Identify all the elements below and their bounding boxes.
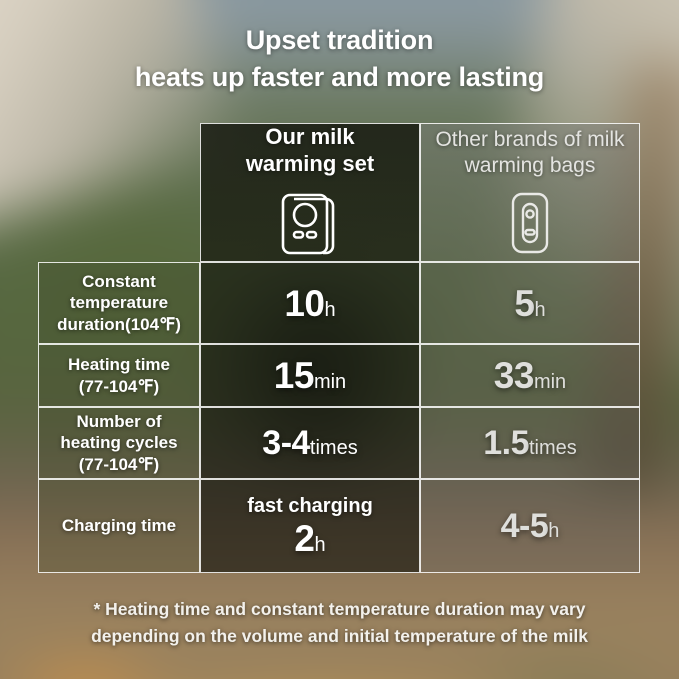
cell-ours-constant-temperature-duration: 10h bbox=[200, 262, 420, 344]
table-row: Heating time (77-104℉) bbox=[38, 344, 200, 407]
cell-other-heating-time: 33min bbox=[420, 344, 640, 407]
table-row: Charging time bbox=[38, 479, 200, 573]
row-label-line-1: Constant bbox=[82, 272, 156, 291]
footnote-line-2: depending on the volume and initial temp… bbox=[34, 623, 645, 650]
row-label-line-2: heating cycles bbox=[60, 433, 177, 452]
column-header-ours-line-2: warming set bbox=[246, 151, 374, 176]
value-ours-row-2: 15min bbox=[274, 357, 346, 394]
row-label-charging-time: Charging time bbox=[58, 515, 180, 536]
value-number: 3-4 bbox=[262, 424, 310, 462]
promo-infographic: Upset tradition heats up faster and more… bbox=[0, 0, 679, 679]
value-unit: min bbox=[314, 371, 346, 393]
value-unit: h bbox=[325, 299, 336, 321]
row-label-number-of-heating-cycles: Number of heating cycles (77-104℉) bbox=[56, 411, 181, 475]
value-unit: times bbox=[310, 437, 358, 459]
column-header-ours-line-1: Our milk bbox=[265, 124, 354, 149]
value-number: 5 bbox=[514, 283, 534, 324]
value-unit: min bbox=[534, 371, 566, 393]
cell-ours-charging-time: fast charging 2h bbox=[200, 479, 420, 573]
value-ours-row-1: 10h bbox=[284, 285, 335, 322]
table-row: Number of heating cycles (77-104℉) bbox=[38, 407, 200, 479]
row-label-heating-time: Heating time (77-104℉) bbox=[64, 354, 174, 397]
value-other-row-3: 1.5times bbox=[483, 426, 577, 460]
row-label-line-3: duration(104℉) bbox=[57, 315, 181, 334]
cell-other-constant-temperature-duration: 5h bbox=[420, 262, 640, 344]
value-unit: h bbox=[314, 534, 325, 556]
row-label-line-2: (77-104℉) bbox=[79, 377, 159, 396]
cell-ours-heating-cycles: 3-4times bbox=[200, 407, 420, 479]
headline-line-2: heats up faster and more lasting bbox=[0, 59, 679, 96]
value-number: 1.5 bbox=[483, 424, 529, 462]
cell-ours-heating-time: 15min bbox=[200, 344, 420, 407]
column-header-other: Other brands of milk warming bags bbox=[420, 123, 640, 262]
row-label-line-1: Number of bbox=[76, 412, 161, 431]
cell-other-heating-cycles: 1.5times bbox=[420, 407, 640, 479]
value-other-row-2: 33min bbox=[494, 357, 566, 394]
column-header-ours-title: Our milk warming set bbox=[246, 124, 374, 178]
row-label-line-2: temperature bbox=[70, 293, 168, 312]
value-number: 15 bbox=[274, 355, 314, 396]
row-label-line-1: Heating time bbox=[68, 355, 170, 374]
value-unit: times bbox=[529, 437, 577, 459]
footnote: * Heating time and constant temperature … bbox=[0, 596, 679, 650]
headline-line-1: Upset tradition bbox=[0, 22, 679, 59]
row-label-constant-temperature-duration: Constant temperature duration(104℉) bbox=[53, 271, 185, 335]
value-other-row-4: 4-5h bbox=[501, 509, 560, 543]
value-unit: h bbox=[548, 520, 559, 542]
column-header-other-title: Other brands of milk warming bags bbox=[435, 127, 624, 178]
milk-warmer-device-icon bbox=[281, 187, 339, 261]
table-corner-blank bbox=[38, 123, 200, 262]
value-ours-row-4: 2h bbox=[294, 520, 325, 557]
column-header-ours: Our milk warming set bbox=[200, 123, 420, 262]
table-row: Constant temperature duration(104℉) bbox=[38, 262, 200, 344]
value-number: 10 bbox=[284, 283, 324, 324]
value-other-row-1: 5h bbox=[514, 285, 545, 322]
value-ours-row-4-note: fast charging bbox=[247, 495, 373, 518]
footnote-line-1: * Heating time and constant temperature … bbox=[34, 596, 645, 623]
milk-warming-bag-icon bbox=[505, 188, 555, 258]
value-number: 2 bbox=[294, 518, 314, 559]
comparison-table: Our milk warming set bbox=[38, 123, 640, 573]
row-label-line-1: Charging time bbox=[62, 516, 176, 535]
value-number: 33 bbox=[494, 355, 534, 396]
headline: Upset tradition heats up faster and more… bbox=[0, 22, 679, 97]
cell-other-charging-time: 4-5h bbox=[420, 479, 640, 573]
value-unit: h bbox=[534, 299, 545, 321]
row-label-line-3: (77-104℉) bbox=[79, 455, 159, 474]
column-header-other-line-1: Other brands of milk bbox=[435, 128, 624, 151]
column-header-other-line-2: warming bags bbox=[465, 154, 596, 177]
value-ours-row-3: 3-4times bbox=[262, 426, 357, 460]
value-number: 4-5 bbox=[501, 507, 549, 545]
